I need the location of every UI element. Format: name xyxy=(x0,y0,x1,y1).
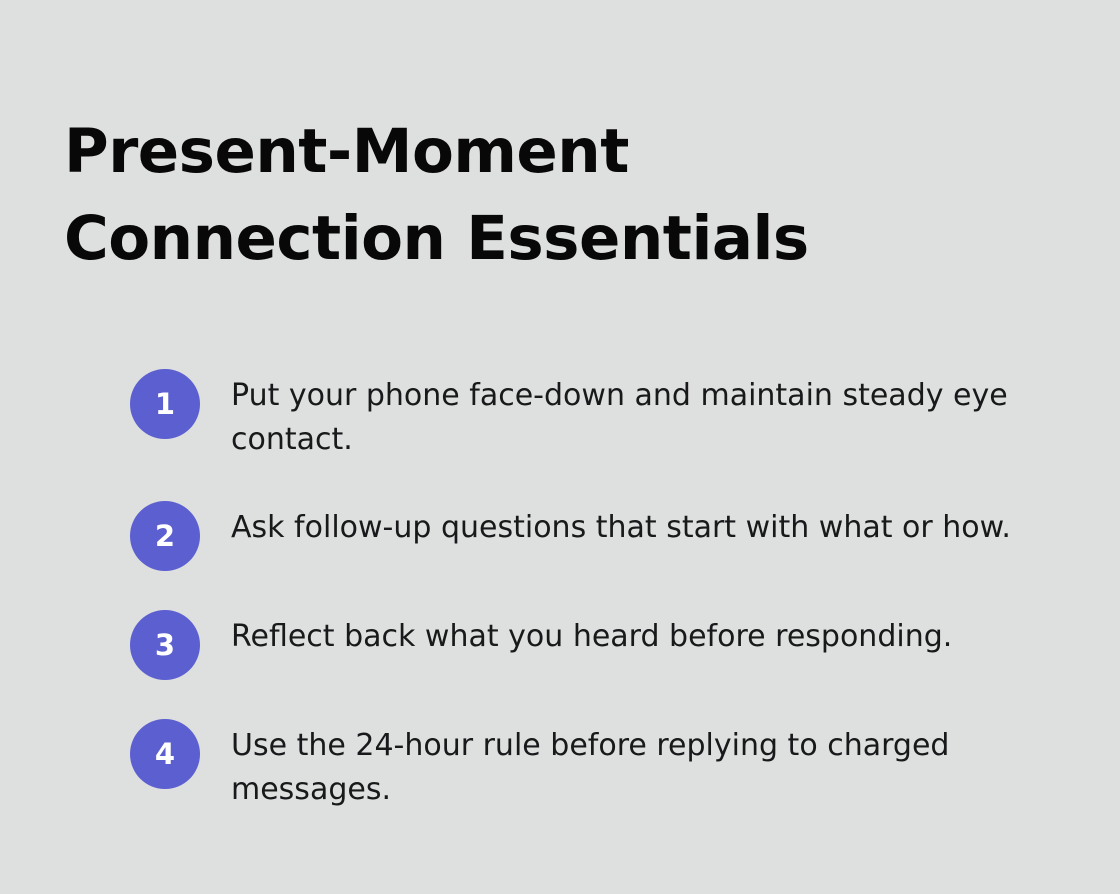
list-number-badge: 2 xyxy=(130,501,200,571)
list-number-badge: 3 xyxy=(130,610,200,680)
list-item-text: Use the 24-hour rule before replying to … xyxy=(231,716,1020,812)
list-item: 2 Ask follow-up questions that start wit… xyxy=(130,498,1020,571)
list-item: 1 Put your phone face-down and maintain … xyxy=(130,366,1020,462)
list-number-badge: 4 xyxy=(130,719,200,789)
numbered-list: 1 Put your phone face-down and maintain … xyxy=(130,366,1020,812)
list-item-text: Put your phone face-down and maintain st… xyxy=(231,366,1020,462)
list-number-badge: 1 xyxy=(130,369,200,439)
list-item-text: Reflect back what you heard before respo… xyxy=(231,607,1020,659)
list-item: 3 Reflect back what you heard before res… xyxy=(130,607,1020,680)
list-item-text: Ask follow-up questions that start with … xyxy=(231,498,1020,550)
slide-canvas: Present-Moment Connection Essentials 1 P… xyxy=(0,0,1120,894)
list-item: 4 Use the 24-hour rule before replying t… xyxy=(130,716,1020,812)
page-title: Present-Moment Connection Essentials xyxy=(64,108,1014,282)
